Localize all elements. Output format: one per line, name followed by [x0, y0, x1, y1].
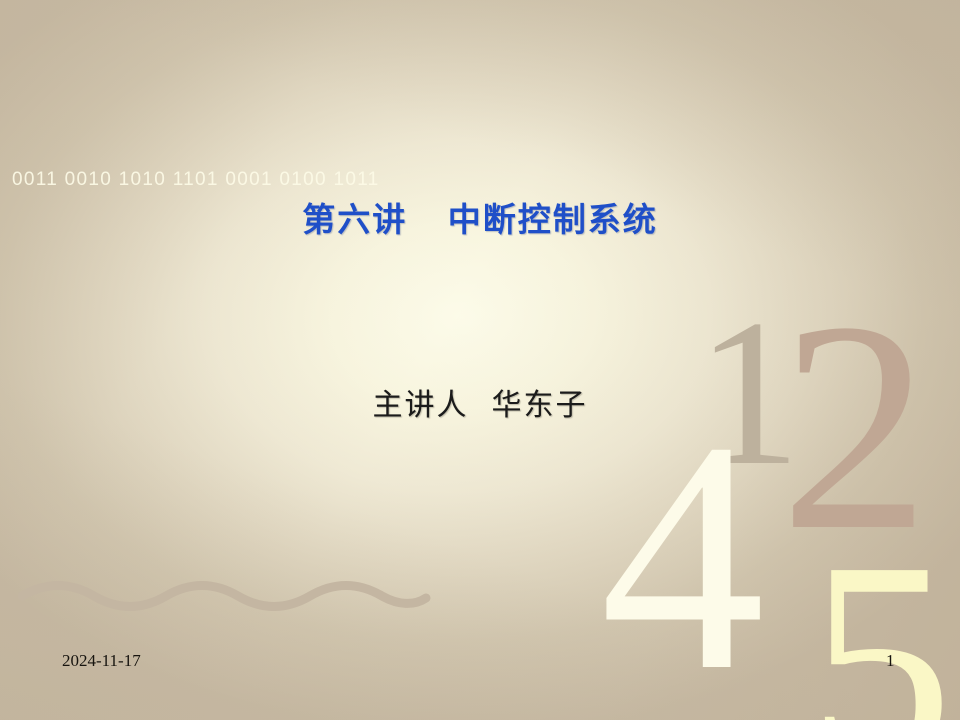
footer-page-number: 1	[886, 651, 895, 671]
decorative-numerals-group: 1 2 4 5	[660, 280, 960, 720]
decorative-numeral-2: 2	[780, 276, 930, 576]
slide-title: 第六讲 中断控制系统	[0, 193, 960, 241]
decorative-numeral-5: 5	[808, 518, 953, 720]
footer-date: 2024-11-17	[62, 651, 141, 671]
wavy-rule-icon	[18, 562, 438, 622]
presentation-slide: 1 2 4 5 0011 0010 1010 1101 0001 0100 10…	[0, 0, 960, 720]
slide-subtitle-presenter: 主讲人 华东子	[0, 380, 960, 424]
decorative-numeral-4: 4	[600, 392, 765, 720]
binary-digits-strip: 0011 0010 1010 1101 0001 0100 1011	[12, 169, 380, 191]
